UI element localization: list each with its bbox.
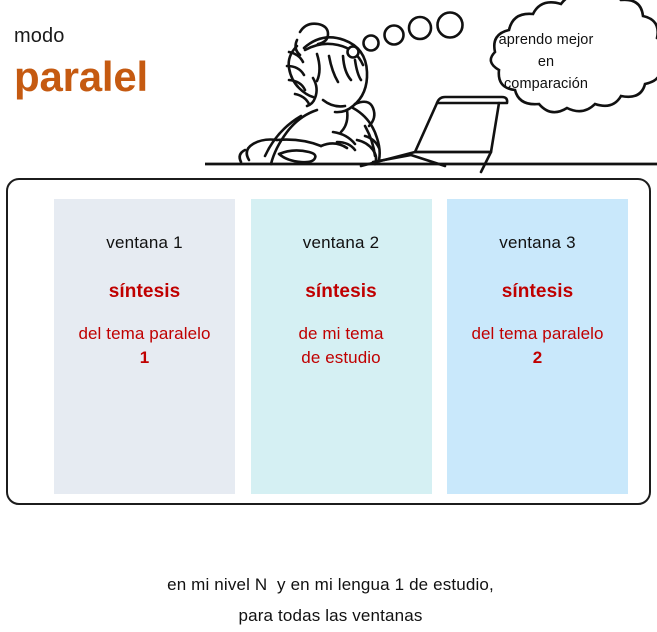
window-column-2-synthesis-label: síntesis [251, 281, 432, 304]
parallel-mode-panel: ventana 1 síntesis del tema paralelo 1 v… [6, 178, 651, 505]
header-area: modo paralel [0, 0, 657, 178]
window-columns: ventana 1 síntesis del tema paralelo 1 v… [54, 199, 628, 494]
window-column-2-detail: de mi tema de estudio [251, 322, 432, 370]
panel-footer-note: en mi nivel N y en mi lengua 1 de estudi… [8, 569, 653, 632]
mode-kicker-label: modo [14, 26, 214, 47]
thought-dot-5 [438, 13, 463, 38]
window-column-3-synthesis-label: síntesis [447, 281, 628, 304]
thought-dot-4 [409, 17, 431, 39]
window-column-2-title: ventana 2 [251, 233, 432, 253]
thought-dot-1 [348, 47, 359, 58]
window-column-3-emphasis: 2 [447, 346, 628, 370]
window-column-2-detail-line-1: de mi tema [298, 324, 383, 343]
mode-name-label: paralel [14, 54, 214, 100]
window-column-3-detail: del tema paralelo 2 [447, 322, 628, 370]
window-column-3-detail-line-1: del tema paralelo [471, 324, 603, 343]
window-column-1-title: ventana 1 [54, 233, 235, 253]
thought-bubble-line-1: aprendo mejor [466, 30, 626, 52]
window-column-1-detail-line-1: del tema paralelo [78, 324, 210, 343]
title-block: modo paralel [14, 26, 214, 100]
window-column-2-detail-line-2: de estudio [301, 348, 380, 367]
window-column-1-emphasis: 1 [54, 346, 235, 370]
window-column-1[interactable]: ventana 1 síntesis del tema paralelo 1 [54, 199, 235, 494]
thought-dot-2 [364, 36, 379, 51]
panel-footer-line-1: en mi nivel N y en mi lengua 1 de estudi… [8, 569, 653, 600]
window-column-3-title: ventana 3 [447, 233, 628, 253]
window-column-1-detail: del tema paralelo 1 [54, 322, 235, 370]
thought-dot-3 [385, 26, 404, 45]
thought-bubble-line-3: comparación [466, 74, 626, 96]
thought-bubble-line-2: en [466, 52, 626, 74]
window-column-2[interactable]: ventana 2 síntesis de mi tema de estudio [251, 199, 432, 494]
window-column-1-synthesis-label: síntesis [54, 281, 235, 304]
window-column-3[interactable]: ventana 3 síntesis del tema paralelo 2 [447, 199, 628, 494]
thought-bubble-text: aprendo mejor en comparación [466, 30, 626, 95]
panel-footer-line-2: para todas las ventanas [8, 600, 653, 631]
